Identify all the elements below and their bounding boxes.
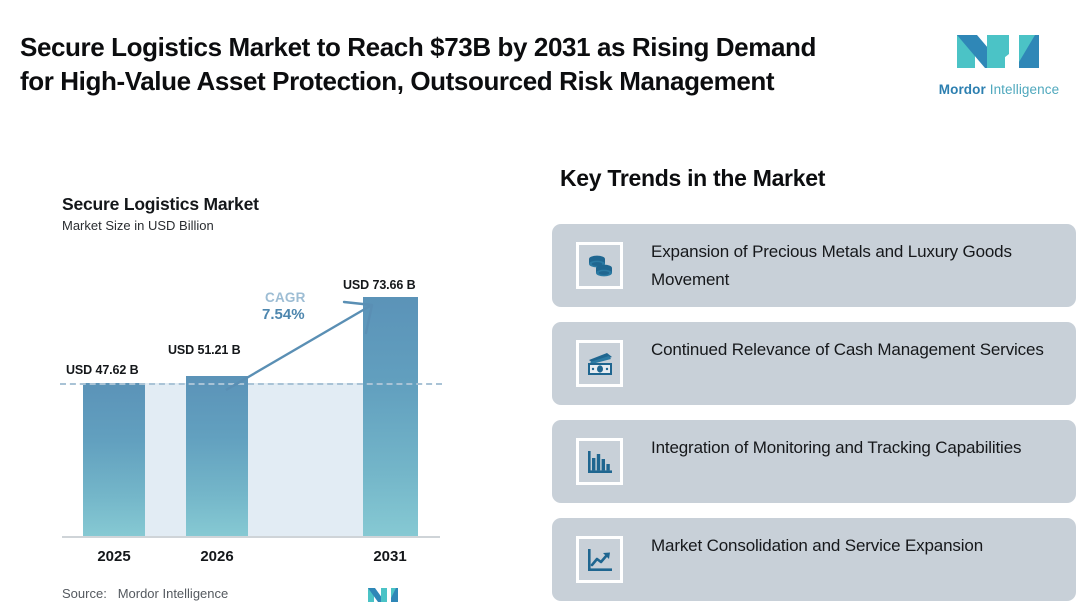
chart-source-row: Source: Mordor Intelligence bbox=[62, 586, 442, 606]
x-tick-2026: 2026 bbox=[186, 548, 248, 565]
x-tick-2031: 2031 bbox=[361, 548, 419, 565]
trending-up-icon bbox=[576, 536, 623, 583]
trend-card-text: Integration of Monitoring and Tracking C… bbox=[651, 434, 1080, 462]
mordor-small-logo-icon bbox=[367, 586, 401, 604]
chart-band-1 bbox=[145, 383, 186, 536]
page-header: Secure Logistics Market to Reach $73B by… bbox=[0, 0, 1080, 125]
source-name: Mordor Intelligence bbox=[118, 586, 229, 601]
chart-source-text: Source: Mordor Intelligence bbox=[62, 586, 228, 601]
chart-plot-area: USD 47.62 B USD 51.21 B USD 73.66 B CAGR… bbox=[0, 150, 500, 612]
source-prefix: Source: bbox=[62, 586, 107, 601]
trend-card-text: Market Consolidation and Service Expansi… bbox=[651, 532, 1080, 560]
mordor-logo-icon bbox=[935, 22, 1063, 80]
logo-word-mordor: Mordor bbox=[939, 82, 986, 97]
headline-line-1: Secure Logistics Market to Reach $73B by… bbox=[20, 30, 900, 64]
logo-word-intelligence: Intelligence bbox=[990, 82, 1060, 97]
bar-chart-icon bbox=[576, 438, 623, 485]
bar-2026 bbox=[186, 376, 248, 536]
mordor-intelligence-logo: Mordor Intelligence bbox=[935, 22, 1063, 104]
key-trends-title: Key Trends in the Market bbox=[560, 165, 825, 192]
mordor-logo-wordmark: Mordor Intelligence bbox=[935, 82, 1063, 97]
page-title: Secure Logistics Market to Reach $73B by… bbox=[20, 30, 900, 99]
trend-card-cash-management[interactable]: Continued Relevance of Cash Management S… bbox=[552, 322, 1076, 405]
trend-card-precious-metals[interactable]: Expansion of Precious Metals and Luxury … bbox=[552, 224, 1076, 307]
market-size-chart: Secure Logistics Market Market Size in U… bbox=[0, 150, 500, 612]
chart-x-axis bbox=[62, 536, 440, 538]
headline-line-2: for High-Value Asset Protection, Outsour… bbox=[20, 64, 900, 98]
bar-label-2025: USD 47.62 B bbox=[66, 363, 139, 377]
trend-card-text: Continued Relevance of Cash Management S… bbox=[651, 336, 1080, 364]
trend-card-list: Expansion of Precious Metals and Luxury … bbox=[552, 224, 1080, 616]
trend-card-text: Expansion of Precious Metals and Luxury … bbox=[651, 238, 1080, 293]
growth-arrow-icon bbox=[220, 288, 390, 398]
stacked-coins-icon bbox=[576, 242, 623, 289]
bar-2025 bbox=[83, 383, 145, 536]
trend-card-market-consolidation[interactable]: Market Consolidation and Service Expansi… bbox=[552, 518, 1076, 601]
chart-band-2 bbox=[248, 383, 363, 536]
banknote-cash-icon bbox=[576, 340, 623, 387]
trend-card-monitoring-tracking[interactable]: Integration of Monitoring and Tracking C… bbox=[552, 420, 1076, 503]
key-trends-panel: Key Trends in the Market Expansion of Pr… bbox=[552, 150, 1080, 612]
x-tick-2025: 2025 bbox=[83, 548, 145, 565]
